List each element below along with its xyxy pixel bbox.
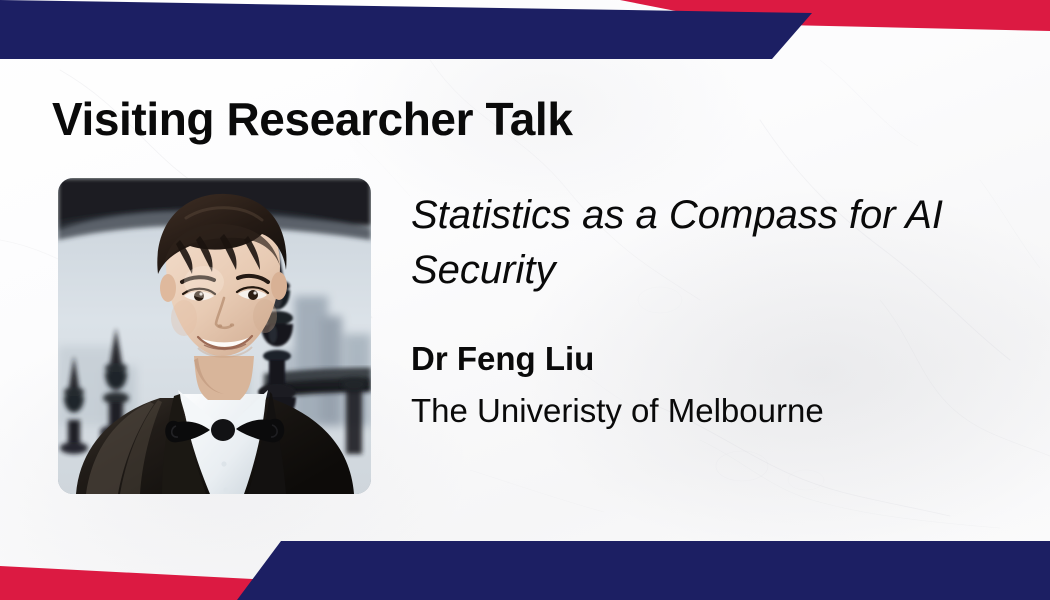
speaker-affiliation: The Univeristy of Melbourne (411, 392, 824, 430)
bottom-navy-band (0, 530, 1050, 600)
top-navy-band (0, 0, 1050, 70)
speaker-portrait-photo (58, 178, 371, 494)
page-title: Visiting Researcher Talk (52, 92, 573, 146)
presentation-slide: Visiting Researcher Talk (0, 0, 1050, 600)
speaker-name: Dr Feng Liu (411, 340, 594, 378)
talk-title: Statistics as a Compass for AI Security (411, 188, 1001, 298)
portrait-image (58, 178, 371, 494)
